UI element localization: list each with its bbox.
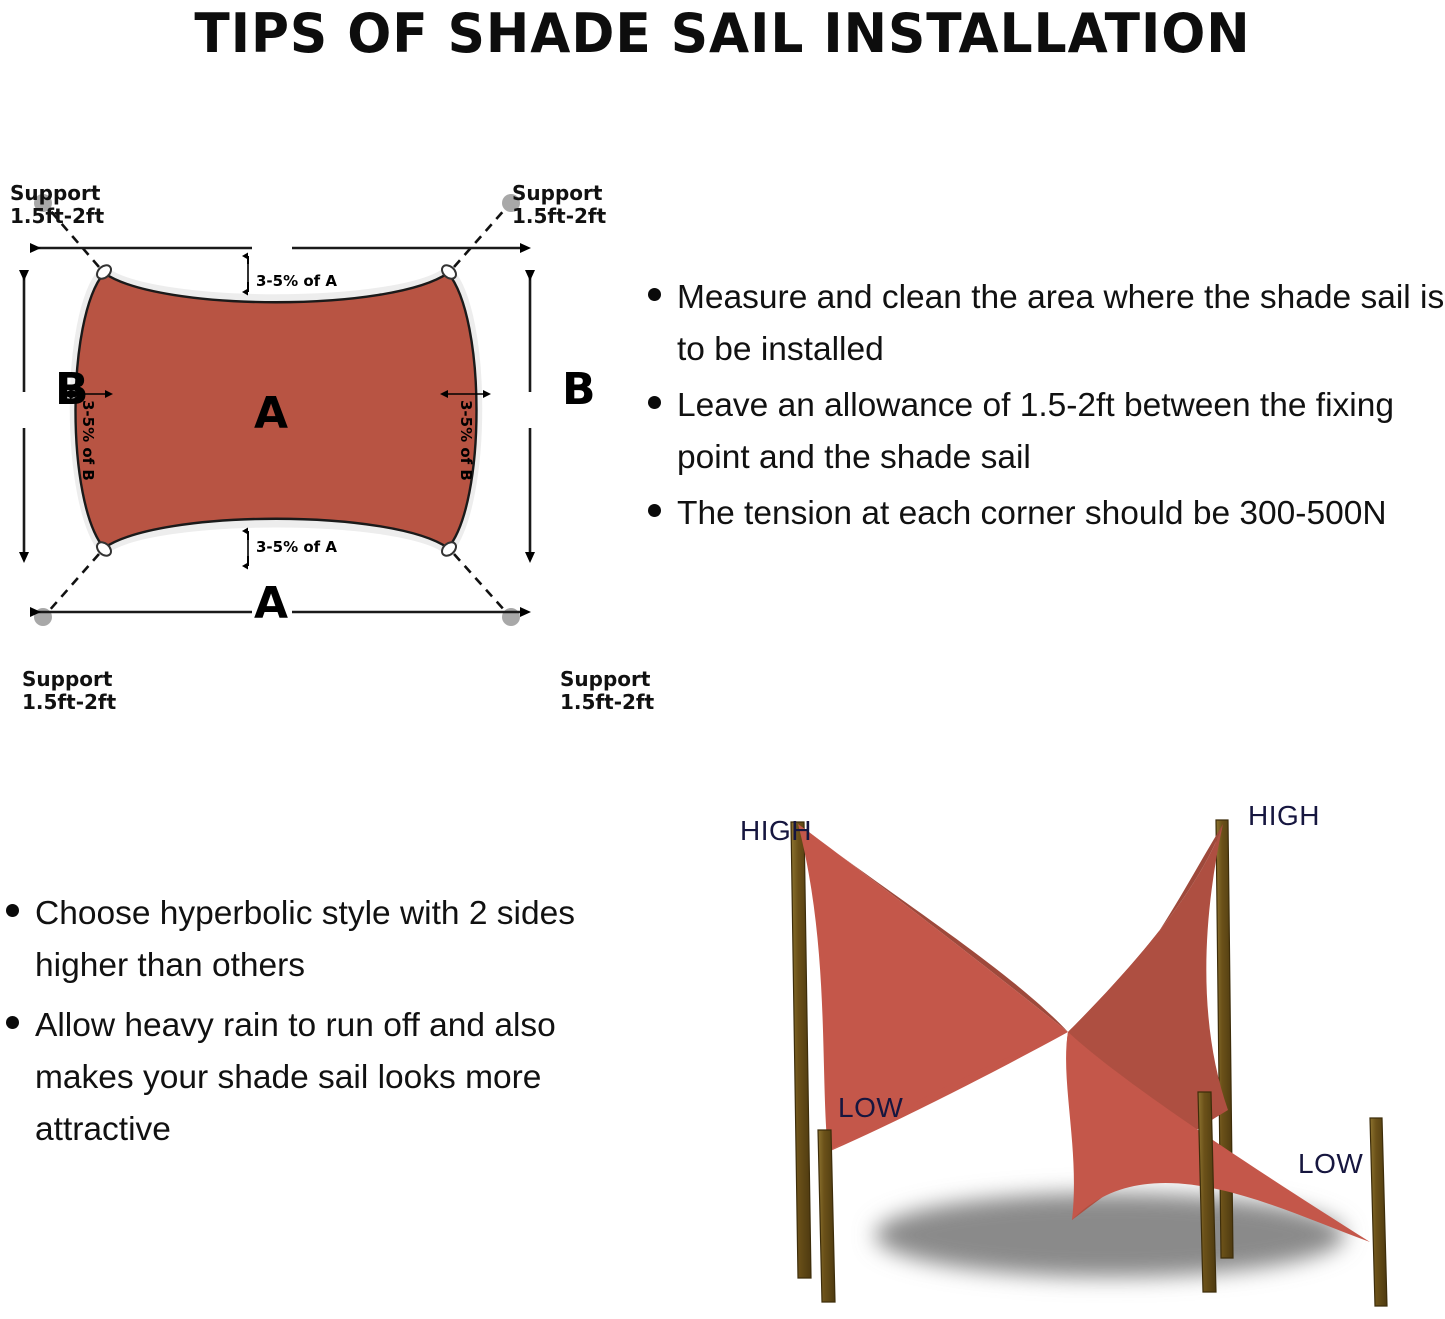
post-right-low <box>1370 1118 1387 1306</box>
list-item-text: Choose hyperbolic style with 2 sides hig… <box>35 888 626 992</box>
sag-label-a-bottom: 3-5% of A <box>256 538 337 556</box>
support-label-bottom-right: Support 1.5ft-2ft <box>560 668 654 714</box>
list-item: Choose hyperbolic style with 2 sides hig… <box>6 888 626 992</box>
support-label-line1: Support <box>512 181 602 205</box>
support-label-line2: 1.5ft-2ft <box>560 690 654 714</box>
bullet-dot-icon <box>6 904 19 917</box>
bullet-dot-icon <box>648 396 661 409</box>
dimension-letter-a-bottom: A <box>254 582 288 626</box>
support-label-line2: 1.5ft-2ft <box>10 204 104 228</box>
bullet-dot-icon <box>648 504 661 517</box>
bullet-dot-icon <box>648 288 661 301</box>
list-item: Leave an allowance of 1.5-2ft between th… <box>648 380 1445 484</box>
post-left-high <box>791 822 811 1278</box>
installation-tips-list: Measure and clean the area where the sha… <box>648 272 1445 544</box>
dimension-letter-b-right: B <box>562 368 596 412</box>
page-title: TIPS OF SHADE SAIL INSTALLATION <box>29 2 1416 65</box>
support-label-line1: Support <box>10 181 100 205</box>
list-item: The tension at each corner should be 300… <box>648 488 1445 540</box>
label-high-left: HIGH <box>740 815 812 847</box>
sag-label-a-top: 3-5% of A <box>256 272 337 290</box>
list-item: Measure and clean the area where the sha… <box>648 272 1445 376</box>
support-label-line1: Support <box>560 667 650 691</box>
hyperbolic-tips-list: Choose hyperbolic style with 2 sides hig… <box>6 888 626 1164</box>
support-label-top-right: Support 1.5ft-2ft <box>512 182 606 228</box>
label-low-left: LOW <box>838 1092 903 1124</box>
list-item-text: The tension at each corner should be 300… <box>677 488 1387 540</box>
support-label-line1: Support <box>22 667 112 691</box>
support-label-line2: 1.5ft-2ft <box>512 204 606 228</box>
sag-label-b-right: 3-5% of B <box>457 400 475 481</box>
bullet-dot-icon <box>6 1016 19 1029</box>
post-right-high <box>1216 820 1233 1258</box>
support-label-top-left: Support 1.5ft-2ft <box>10 182 104 228</box>
hyperbolic-shade-sail-illustration: HIGH HIGH LOW LOW <box>680 780 1445 1310</box>
list-item-text: Allow heavy rain to run off and also mak… <box>35 1000 626 1156</box>
label-low-right: LOW <box>1298 1148 1363 1180</box>
list-item-text: Measure and clean the area where the sha… <box>677 272 1445 376</box>
list-item: Allow heavy rain to run off and also mak… <box>6 1000 626 1156</box>
support-label-bottom-left: Support 1.5ft-2ft <box>22 668 116 714</box>
sag-label-b-left: 3-5% of B <box>79 400 97 481</box>
dimension-letter-a-top: A <box>254 392 288 436</box>
list-item-text: Leave an allowance of 1.5-2ft between th… <box>677 380 1445 484</box>
shade-sail-dimension-diagram: A A B B 3-5% of A 3-5% of A 3-5% of B 3-… <box>0 160 660 740</box>
support-label-line2: 1.5ft-2ft <box>22 690 116 714</box>
post-left-low <box>818 1130 835 1302</box>
label-high-right: HIGH <box>1248 800 1320 832</box>
infographic-page: TIPS OF SHADE SAIL INSTALLATION <box>0 0 1445 1319</box>
